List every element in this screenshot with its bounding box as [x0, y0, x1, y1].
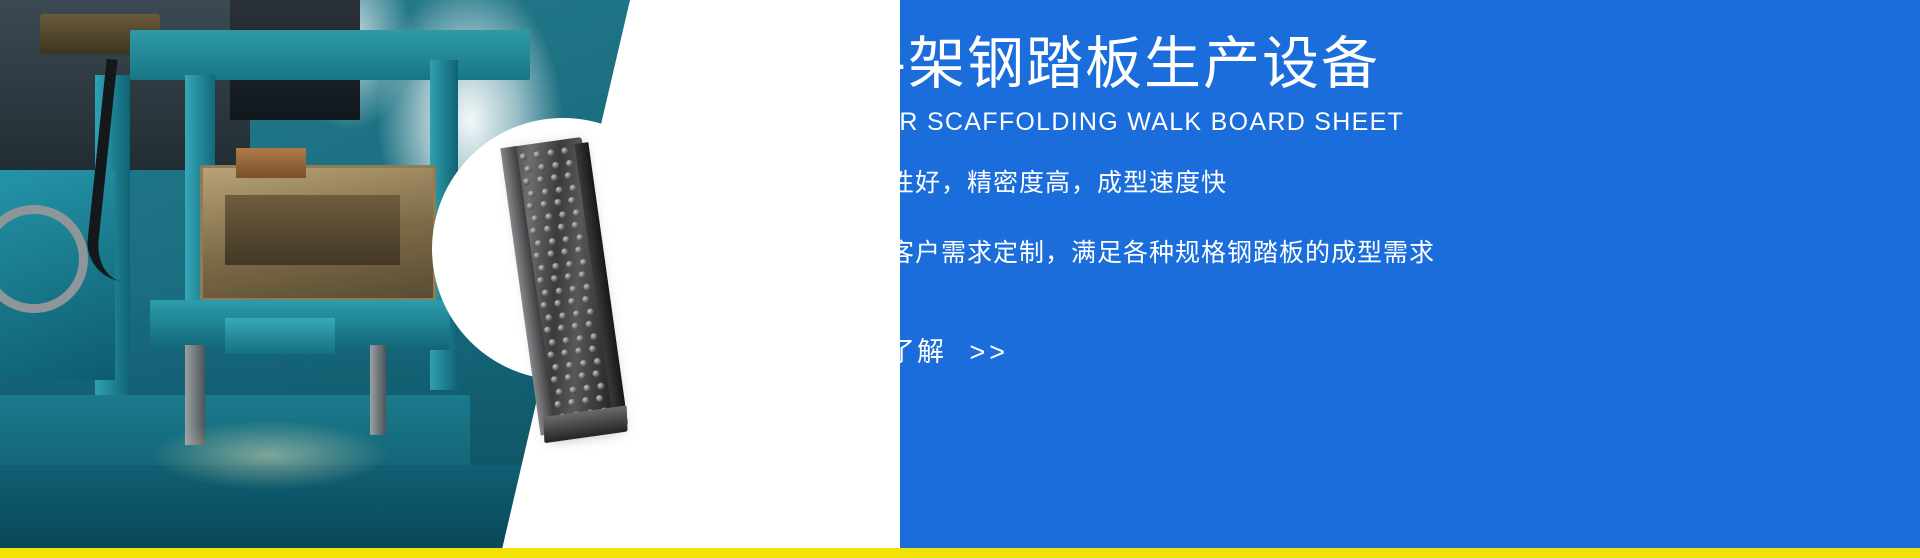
banner-subtitle: LINE FOR SCAFFOLDING WALK BOARD SHEET: [793, 108, 1404, 137]
feature-item-label: 稳定性好，精密度高，成型速度快: [837, 168, 1227, 198]
photo-shape-die-cavity: [225, 195, 400, 265]
square-outline-icon: [795, 243, 815, 263]
feature-item: 按照客户需求定制，满足各种规格钢踏板的成型需求: [795, 238, 1875, 268]
photo-shape-top-beam: [130, 30, 530, 80]
feature-list: 稳定性好，精密度高，成型速度快 按照客户需求定制，满足各种规格钢踏板的成型需求: [795, 168, 1875, 308]
promo-banner: 脚手架钢踏板生产设备 LINE FOR SCAFFOLDING WALK BOA…: [0, 0, 1920, 558]
banner-title: 脚手架钢踏板生产设备: [790, 36, 1380, 93]
photo-shape-base-block: [225, 318, 335, 354]
learn-more-label: 点击了解: [830, 337, 946, 367]
feature-item-label: 按照客户需求定制，满足各种规格钢踏板的成型需求: [837, 238, 1435, 268]
bottom-accent-strip: [0, 548, 1920, 558]
square-outline-icon: [795, 173, 815, 193]
chevron-right-icon: >>: [970, 337, 1010, 367]
learn-more-link[interactable]: 点击了解 >>: [830, 330, 1009, 369]
photo-shape-floor-glow: [150, 420, 390, 490]
photo-shape-copper-insert: [236, 148, 306, 178]
banner-content: 脚手架钢踏板生产设备 LINE FOR SCAFFOLDING WALK BOA…: [790, 0, 1890, 558]
feature-item: 稳定性好，精密度高，成型速度快: [795, 168, 1875, 198]
